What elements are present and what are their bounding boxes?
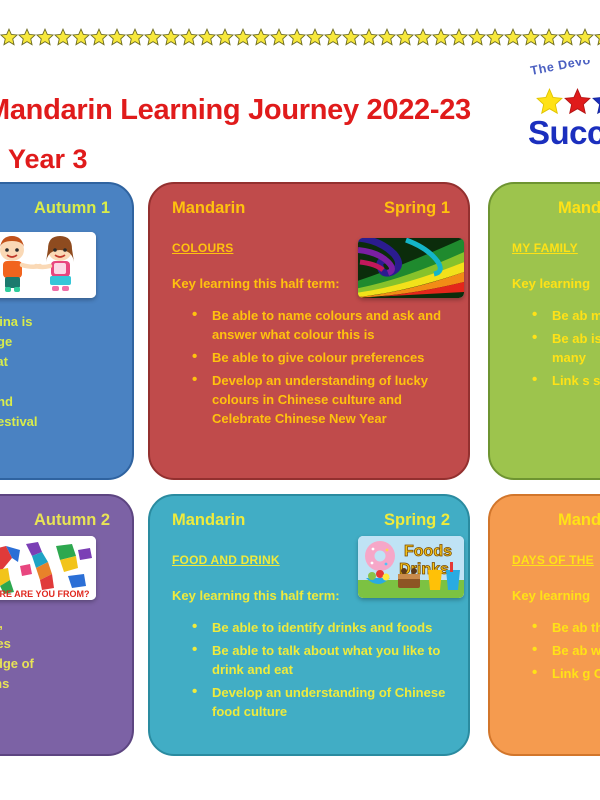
card-header: Mandarin: [512, 511, 600, 530]
bullet-item: ure and: [0, 392, 118, 411]
svg-text:Foods: Foods: [404, 543, 452, 560]
border-star-icon: [144, 28, 162, 46]
card-header: Mandarin Spring 1: [172, 199, 450, 218]
svg-text:WHERE ARE YOU FROM?: WHERE ARE YOU FROM?: [0, 589, 90, 599]
bullet-item: owledge of: [0, 654, 118, 673]
logo-wordmark: Succ: [528, 114, 600, 152]
bullet-item: cities,: [0, 614, 118, 633]
border-star-icon: [450, 28, 468, 46]
border-star-icon: [324, 28, 342, 46]
border-star-icon: [522, 28, 540, 46]
card-key-learning-label: Key learning: [512, 276, 590, 291]
border-star-icon: [162, 28, 180, 46]
bullet-item: Link s sound: [552, 371, 600, 390]
card-term-label: Autumn 2: [34, 511, 110, 530]
card-header: Mandarin: [512, 199, 600, 218]
border-star-icon: [558, 28, 576, 46]
bullet-item: Be ab week: [552, 641, 600, 660]
card-header: Mandarin Spring 2: [172, 511, 450, 530]
card-term-label: Spring 2: [384, 511, 450, 530]
card-key-learning-label: Key learning: [512, 588, 590, 603]
border-star-icon: [180, 28, 198, 46]
border-star-icon: [486, 28, 504, 46]
border-star-icon: [576, 28, 594, 46]
bullet-item: s and: [0, 694, 118, 713]
border-star-icon: [270, 28, 288, 46]
bullet-item: re China is: [0, 312, 118, 331]
border-star-icon: [306, 28, 324, 46]
border-star-icon: [378, 28, 396, 46]
border-star-icon: [90, 28, 108, 46]
border-star-icon: [234, 28, 252, 46]
learning-journey-grid: Autumn 1: [0, 182, 600, 800]
bullet-item: rations: [0, 674, 118, 693]
logo-stars: [536, 88, 600, 115]
card-topic-label: DAYS OF THE: [512, 553, 594, 567]
logo-star-blue-icon: [592, 88, 600, 115]
card-subject-label: Mandarin: [558, 199, 600, 218]
card-bullet-list: Be ab the daBe ab weekLink g Chine: [526, 618, 600, 687]
border-star-icon: [468, 28, 486, 46]
bullet-item: e day: [0, 372, 118, 391]
bullet-item: Be able to talk about what you like to d…: [212, 641, 454, 679]
card-subject-label: Mandarin: [172, 199, 245, 218]
border-star-icon: [0, 28, 18, 46]
card-summer-1[interactable]: Mandarin MY FAMILY Key learning Be ab me…: [488, 182, 600, 480]
card-spring-2[interactable]: Mandarin Spring 2 FOOD AND DRINK Key lea…: [148, 494, 470, 756]
bullet-item: Be able to name colours and ask and answ…: [212, 306, 454, 344]
border-star-icon: [216, 28, 234, 46]
card-bullet-list: Be ab membBe ab is in y manyLink s sound: [526, 306, 600, 394]
bullet-item: Link g Chine: [552, 664, 600, 683]
bullet-item: Develop an understanding of lucky colour…: [212, 371, 454, 428]
border-star-icon: [540, 28, 558, 46]
card-autumn-2[interactable]: Autumn 2: [0, 494, 134, 756]
card-summer-2[interactable]: Mandarin DAYS OF THE Key learning Be ab …: [488, 494, 600, 756]
rainbow-swirl-image: [358, 238, 464, 298]
border-star-icon: [36, 28, 54, 46]
border-star-icon: [504, 28, 522, 46]
border-star-icon: [396, 28, 414, 46]
card-header: Autumn 2: [0, 511, 114, 530]
border-star-icon: [126, 28, 144, 46]
logo-star-yellow-icon: [536, 88, 563, 115]
bullet-item: Be able to identify drinks and foods: [212, 618, 454, 637]
logo-star-red-icon: [564, 88, 591, 115]
border-star-icon: [54, 28, 72, 46]
border-star-icon: [18, 28, 36, 46]
border-star-icon: [108, 28, 126, 46]
border-star-icon: [414, 28, 432, 46]
card-bullet-list: Be able to name colours and ask and answ…: [186, 306, 454, 432]
bullet-item: Develop an understanding of Chinese food…: [212, 683, 454, 721]
world-flag-map-image: WHERE ARE YOU FROM?: [0, 536, 96, 600]
card-key-learning-label: Key learning this half term:: [172, 588, 340, 603]
page-title: Mandarin Learning Journey 2022-23: [0, 94, 471, 127]
page-header: Mandarin Learning Journey 2022-23 Year 3…: [0, 52, 600, 178]
border-star-icon: [360, 28, 378, 46]
card-subject-label: Mandarin: [558, 511, 600, 530]
card-bullet-list: re China isnguageople ate dayure andmn F…: [0, 312, 118, 432]
school-logo: The Devo Succ: [524, 60, 600, 178]
foods-and-drinks-image: Foods Drinks: [358, 536, 464, 598]
border-star-icon: [432, 28, 450, 46]
border-star-icon: [288, 28, 306, 46]
bullet-item: Be ab memb: [552, 306, 600, 325]
card-subject-label: Mandarin: [172, 511, 245, 530]
year-group-label: Year 3: [8, 144, 88, 175]
card-autumn-1[interactable]: Autumn 1: [0, 182, 134, 480]
bullet-item: ople at: [0, 352, 118, 371]
bullet-item: Be ab is in y many: [552, 329, 600, 367]
card-bullet-list: Be able to identify drinks and foodsBe a…: [186, 618, 454, 725]
border-star-icon: [198, 28, 216, 46]
card-term-label: Spring 1: [384, 199, 450, 218]
two-children-illustration-image: [0, 232, 96, 298]
border-star-icon: [72, 28, 90, 46]
logo-arc-text: The Devo: [529, 60, 592, 78]
card-header: Autumn 1: [0, 199, 114, 218]
bullet-item: mn Festival: [0, 412, 118, 431]
border-star-icon: [342, 28, 360, 46]
card-topic-label: MY FAMILY: [512, 241, 578, 255]
border-star-icon: [252, 28, 270, 46]
bullet-item: nguage: [0, 332, 118, 351]
bullet-item: Be ab the da: [552, 618, 600, 637]
card-topic-label: COLOURS: [172, 241, 233, 255]
card-bullet-list: cities,nalitiesowledge ofrationss and: [0, 614, 118, 714]
card-key-learning-label: Key learning this half term:: [172, 276, 340, 291]
border-star-icon: [594, 28, 600, 46]
bullet-item: Be able to give colour preferences: [212, 348, 454, 367]
card-topic-label: FOOD AND DRINK: [172, 553, 280, 567]
card-term-label: Autumn 1: [34, 199, 110, 218]
bullet-item: nalities: [0, 634, 118, 653]
star-border-strip: [0, 26, 600, 48]
card-spring-1[interactable]: Mandarin Spring 1 COLOURS Key learning t…: [148, 182, 470, 480]
